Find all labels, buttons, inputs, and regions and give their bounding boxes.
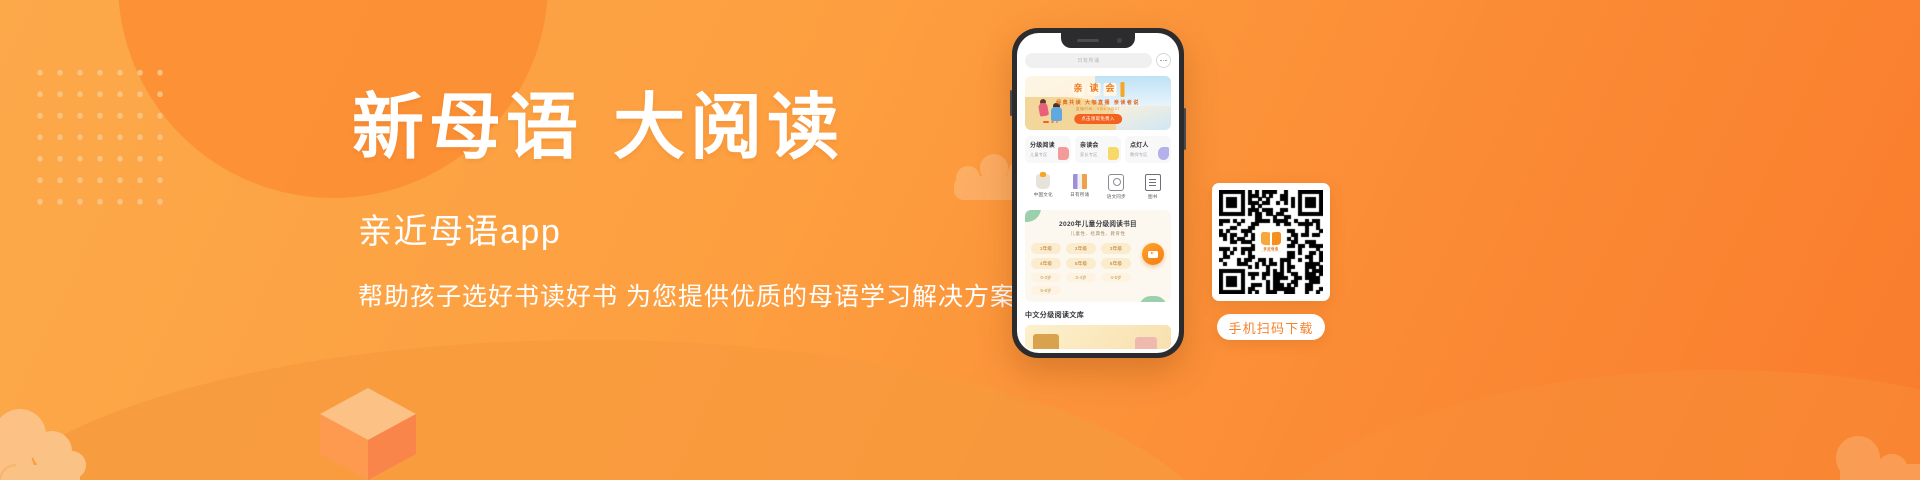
entry-card-parent-club[interactable]: 亲读会 家长专区 — [1075, 136, 1121, 163]
phone-screen: 日有所诵 亲 读 会 经 — [1017, 33, 1179, 353]
books-icon — [1073, 174, 1087, 189]
hero-banner-card[interactable]: 亲 读 会 经典共读 大咖直播 亲读者说 直播时间：9月6-9月27 点击领取免… — [1025, 76, 1171, 130]
culture-icon — [1036, 174, 1050, 189]
hero-child-2 — [1051, 107, 1062, 121]
isometric-cube-shape — [316, 384, 420, 480]
library-book-2 — [1135, 337, 1157, 349]
dot-grid-pattern — [28, 60, 168, 210]
grade-chip[interactable]: 1年级 — [1031, 243, 1061, 254]
search-placeholder: 日有所诵 — [1077, 57, 1099, 64]
grade-chip[interactable]: 2年级 — [1066, 243, 1096, 254]
decorative-hill-right — [1220, 370, 1920, 480]
booklist-subtitle: 儿童性、经典性、教育性 — [1031, 231, 1165, 237]
hero-time: 直播时间：9月6-9月27 — [1076, 107, 1120, 112]
download-button[interactable]: 手机扫码下载 — [1217, 314, 1325, 340]
nav-item-books[interactable]: 图书 — [1135, 174, 1172, 200]
library-section-title: 中文分级阅读文库 — [1025, 310, 1171, 320]
entry-cards: 分级阅读 儿童专区 亲读会 家长专区 点灯人 教师专区 — [1025, 136, 1171, 163]
leaf-icon — [1158, 147, 1169, 160]
banner-subtitle: 亲近母语app — [358, 212, 1032, 252]
decorative-hill — [0, 340, 1220, 480]
book-icon — [1145, 174, 1161, 191]
hero-subtitle: 经典共读 大咖直播 亲读者说 — [1056, 99, 1140, 106]
phone-mockup: 日有所诵 亲 读 会 经 — [1012, 28, 1184, 358]
grade-chip[interactable]: 5年级 — [1066, 258, 1096, 269]
qr-code: 亲近母语 QIN JIN MU YU — [1212, 183, 1330, 301]
quick-nav-grid: 中国文化 日有所诵 语文同步 图书 — [1025, 169, 1171, 204]
phone-notch — [1061, 33, 1135, 48]
library-card[interactable] — [1025, 325, 1171, 349]
age-chip[interactable]: 3-4岁 — [1066, 273, 1096, 282]
banner-tagline: 帮助孩子选好书读好书 为您提供优质的母语学习解决方案 — [358, 280, 1032, 314]
grade-chip[interactable]: 6年级 — [1101, 258, 1131, 269]
bookmark-icon — [1058, 147, 1069, 160]
hero-title-flag-icon — [1121, 82, 1125, 97]
carousel-dots[interactable] — [1043, 121, 1058, 124]
grade-chip[interactable]: 3年级 — [1101, 243, 1131, 254]
banner-copy: 新母语 大阅读 亲近母语app 帮助孩子选好书读好书 为您提供优质的母语学习解决… — [352, 84, 1032, 314]
booklist-card[interactable]: 2020年儿童分级阅读书目 儿童性、经典性、教育性 1年级 2年级 3年级 4年… — [1025, 210, 1171, 302]
banner-headline: 新母语 大阅读 — [352, 84, 1032, 170]
hero-title-char-2: 会 — [1104, 83, 1117, 96]
sync-icon — [1108, 174, 1124, 191]
app-search-bar[interactable]: 日有所诵 — [1025, 53, 1171, 68]
entry-card-graded-reading[interactable]: 分级阅读 儿童专区 — [1025, 136, 1071, 163]
nav-item-culture[interactable]: 中国文化 — [1025, 174, 1062, 200]
nav-label: 日有所诵 — [1062, 192, 1099, 198]
booklist-title: 2020年儿童分级阅读书目 — [1031, 218, 1165, 228]
more-dots-icon[interactable] — [1156, 53, 1171, 68]
hero-title-char-0: 亲 — [1072, 83, 1085, 96]
nav-item-daily-recite[interactable]: 日有所诵 — [1062, 174, 1099, 200]
auspicious-cloud-corner-icon — [1830, 424, 1920, 480]
age-chip[interactable]: 5-6岁 — [1031, 286, 1061, 295]
library-book-1 — [1033, 334, 1059, 349]
nav-label: 中国文化 — [1025, 192, 1062, 198]
video-play-icon[interactable] — [1142, 243, 1164, 265]
leaf-decoration-bottom-icon — [1139, 296, 1167, 302]
hero-title-char-1: 读 — [1088, 83, 1101, 96]
qr-panel: 亲近母语 QIN JIN MU YU 手机扫码下载 — [1212, 183, 1330, 340]
nav-label: 语文同步 — [1098, 194, 1135, 200]
nav-item-chinese-sync[interactable]: 语文同步 — [1098, 174, 1135, 200]
open-book-icon — [1261, 232, 1281, 245]
hero-cta-button[interactable]: 点击领取免费入 — [1074, 114, 1122, 124]
hero-title: 亲 读 会 — [1072, 82, 1125, 97]
age-chip[interactable]: 0-3岁 — [1031, 273, 1061, 282]
grade-chip[interactable]: 4年级 — [1031, 258, 1061, 269]
brand-pinyin: QIN JIN MU YU — [1261, 251, 1282, 253]
age-chip[interactable]: 4-5岁 — [1101, 273, 1131, 282]
nav-label: 图书 — [1135, 194, 1172, 200]
auspicious-cloud-icon — [0, 403, 106, 480]
entry-card-teacher-zone[interactable]: 点灯人 教师专区 — [1125, 136, 1171, 163]
bookmark-icon — [1108, 147, 1119, 160]
promo-banner: 新母语 大阅读 亲近母语app 帮助孩子选好书读好书 为您提供优质的母语学习解决… — [0, 0, 1920, 480]
brand-logo: 亲近母语 QIN JIN MU YU — [1258, 229, 1284, 255]
search-input[interactable]: 日有所诵 — [1025, 53, 1152, 68]
